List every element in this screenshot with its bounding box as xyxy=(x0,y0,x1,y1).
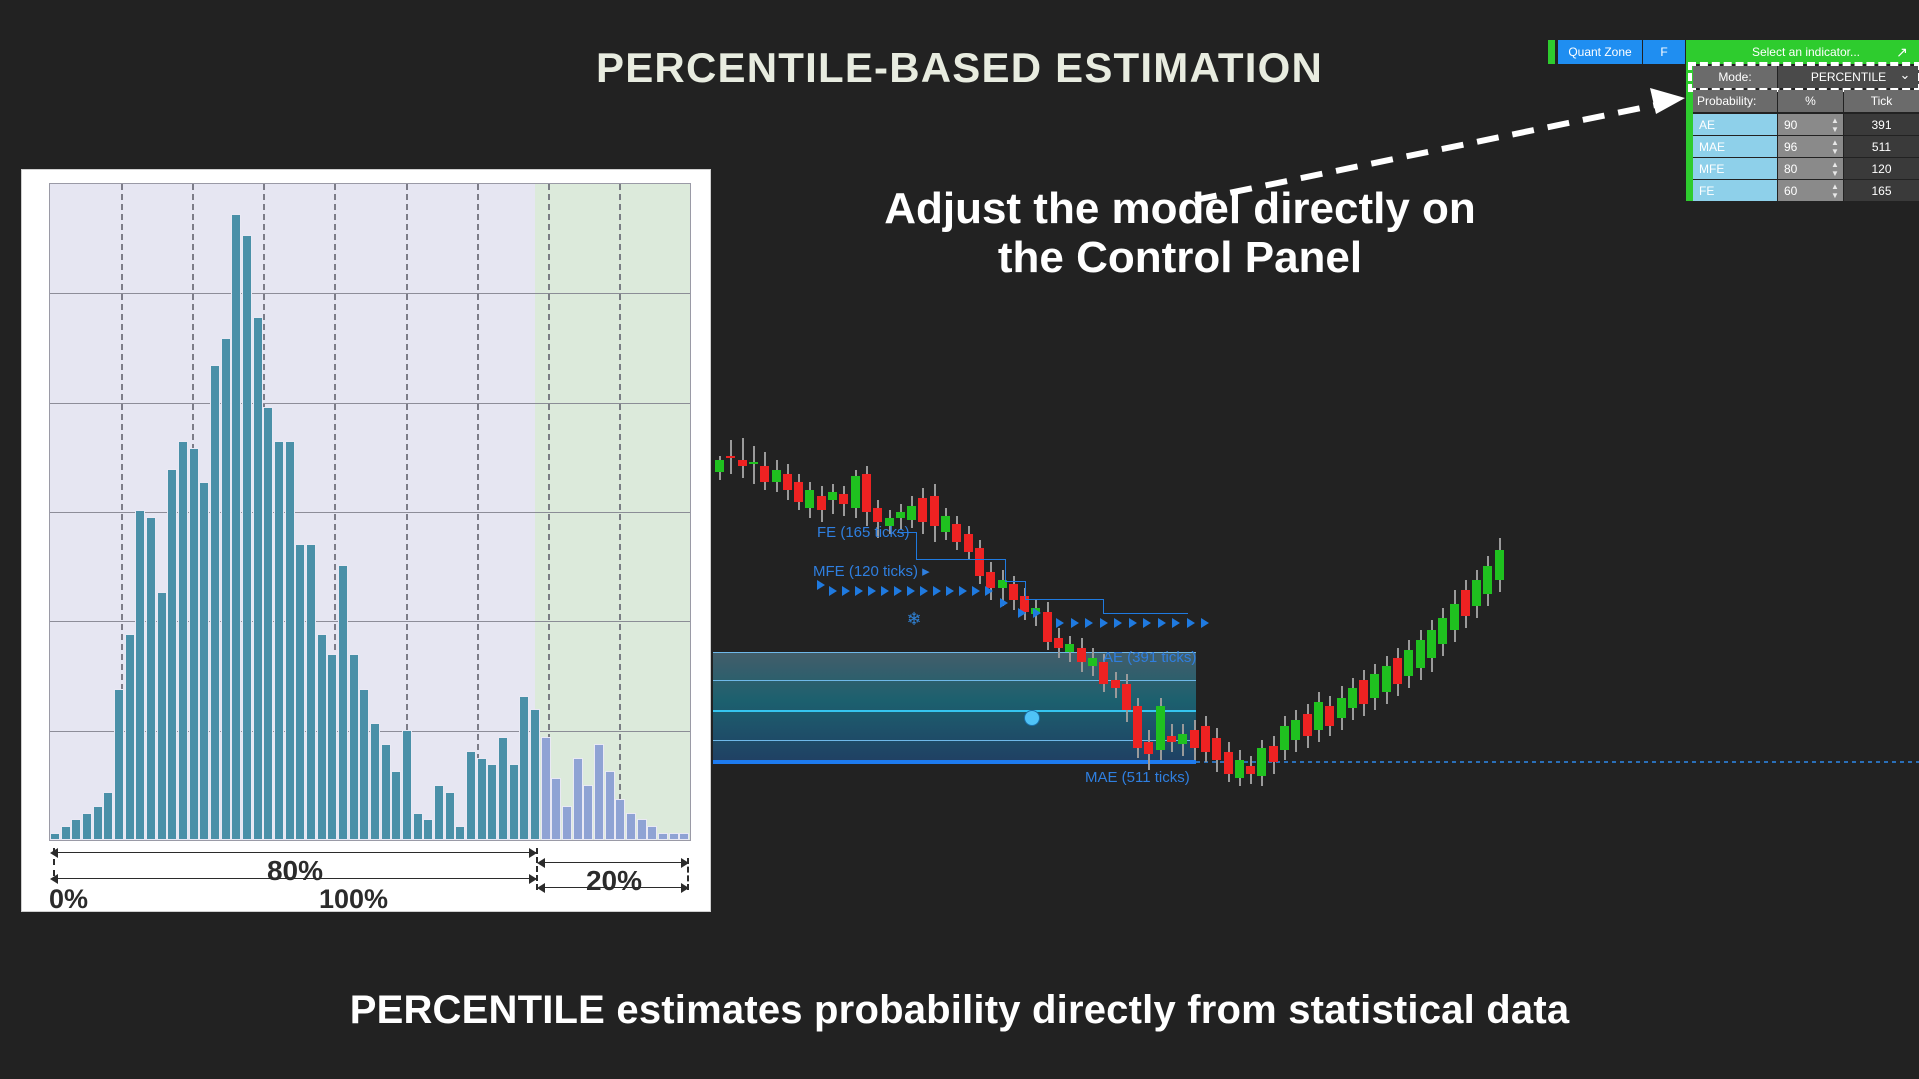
projection-marker-icon xyxy=(946,586,954,596)
projection-marker-icon xyxy=(1172,618,1180,628)
histogram-bar xyxy=(583,785,593,840)
projection-marker-icon xyxy=(972,586,980,596)
bracket-80-label: 80% xyxy=(53,855,537,887)
projection-marker-icon xyxy=(933,586,941,596)
projection-marker-icon xyxy=(868,586,876,596)
candle-body xyxy=(1416,640,1425,668)
gridline-h-3 xyxy=(50,512,690,513)
projection-marker-icon xyxy=(817,580,825,590)
histogram-bar xyxy=(423,819,433,840)
fe-label: FE (165 ticks) xyxy=(817,524,910,541)
projection-marker-icon xyxy=(1000,598,1008,608)
pct-input-fe[interactable]: 60▲▼ xyxy=(1778,180,1843,201)
projection-marker-icon xyxy=(1129,618,1137,628)
candle-body xyxy=(1009,584,1018,600)
histogram-bar xyxy=(103,792,113,840)
candle-body xyxy=(930,496,939,526)
histogram-axis: 80% 20% 0% 100% xyxy=(49,846,691,904)
candlestick-chart: ❄ FE (165 ticks) MFE (120 ticks) ▸ AE (3… xyxy=(713,430,1919,950)
projection-marker-icon xyxy=(1056,618,1064,628)
tick-value-fe: 165 xyxy=(1844,180,1919,201)
fe-step-segment-1 xyxy=(916,532,917,559)
mae-level-line xyxy=(713,760,1196,764)
tick-value-mfe: 120 xyxy=(1844,158,1919,179)
candle-wick xyxy=(742,438,744,478)
projection-marker-icon xyxy=(855,586,863,596)
candle-body xyxy=(1280,726,1289,750)
table-header-probability: Probability: xyxy=(1693,90,1777,112)
candle-body xyxy=(1495,550,1504,580)
histogram-plot-area xyxy=(49,183,691,841)
histogram-bar xyxy=(82,813,92,841)
candle-body xyxy=(1337,698,1346,718)
histogram-bar xyxy=(189,448,199,840)
candle-body xyxy=(1077,648,1086,662)
histogram-bar xyxy=(626,813,636,841)
candle-body xyxy=(1483,566,1492,594)
histogram-bar xyxy=(669,833,679,840)
histogram-bar xyxy=(498,737,508,840)
projection-marker-icon xyxy=(1100,618,1108,628)
candle-body xyxy=(772,470,781,482)
histogram-bar xyxy=(541,737,551,840)
mode-highlight-box xyxy=(1688,62,1919,92)
histogram-bar xyxy=(647,826,657,840)
histogram-bar xyxy=(114,689,124,840)
popout-icon[interactable]: ↗ xyxy=(1885,40,1919,64)
f-button[interactable]: F xyxy=(1643,40,1685,64)
histogram-bar xyxy=(519,696,529,841)
candle-body xyxy=(783,474,792,490)
histogram-bar xyxy=(93,806,103,840)
candle-body xyxy=(1393,658,1402,684)
histogram-bar xyxy=(135,510,145,840)
candle-body xyxy=(839,494,848,504)
stepper-mfe[interactable]: ▲▼ xyxy=(1829,160,1841,178)
candle-body xyxy=(738,460,747,466)
green-strip-left xyxy=(1548,40,1555,64)
candle-body xyxy=(1144,742,1153,754)
row-label-mfe: MFE xyxy=(1693,158,1777,179)
candle-body xyxy=(1359,680,1368,704)
entry-marker-dot[interactable] xyxy=(1025,711,1039,725)
candle-body xyxy=(1438,618,1447,644)
histogram-bar xyxy=(562,806,572,840)
candle-body xyxy=(1370,674,1379,698)
histogram-bar xyxy=(487,764,497,840)
stepper-mae[interactable]: ▲▼ xyxy=(1829,138,1841,156)
bracket-80-arrow-left2 xyxy=(50,874,58,884)
histogram-bar xyxy=(167,469,177,841)
histogram-bar xyxy=(551,778,561,840)
histogram-bar xyxy=(509,764,519,840)
histogram-bar xyxy=(413,813,423,841)
fe-step-segment-6 xyxy=(1025,581,1026,599)
fe-step-segment-4 xyxy=(1005,559,1006,581)
candle-body xyxy=(1167,736,1176,742)
candle-body xyxy=(1088,658,1097,666)
candle-body xyxy=(862,474,871,512)
bracket-80-arrow-right2 xyxy=(529,874,537,884)
histogram-bar xyxy=(71,819,81,840)
histogram-bar xyxy=(285,441,295,840)
candle-body xyxy=(794,482,803,502)
fe-step-segment-5 xyxy=(1005,581,1026,582)
mfe-label: MFE (120 ticks) ▸ xyxy=(813,562,930,580)
histogram-bar xyxy=(605,771,615,840)
candle-body xyxy=(1348,688,1357,708)
ae-label: AE (391 ticks) xyxy=(1103,649,1196,666)
quant-zone-button[interactable]: Quant Zone xyxy=(1558,40,1642,64)
candle-body xyxy=(851,476,860,508)
projection-marker-icon xyxy=(985,586,993,596)
candle-body xyxy=(952,524,961,542)
candle-body xyxy=(975,548,984,576)
histogram-bar xyxy=(370,723,380,840)
candle-body xyxy=(1461,590,1470,616)
candle-body xyxy=(1235,760,1244,778)
candle-body xyxy=(1450,604,1459,630)
candle-body xyxy=(1156,706,1165,750)
histogram-bar xyxy=(466,751,476,840)
histogram-bar xyxy=(349,654,359,840)
gridline-h-2 xyxy=(50,403,690,404)
projection-marker-icon xyxy=(959,586,967,596)
stepper-fe[interactable]: ▲▼ xyxy=(1829,182,1841,200)
candle-body xyxy=(1224,752,1233,774)
bracket-20-bottom xyxy=(539,887,689,888)
bracket-20-arrow-left2 xyxy=(537,883,545,893)
projection-marker-icon xyxy=(907,586,915,596)
projection-marker-icon xyxy=(1201,618,1209,628)
histogram-bar xyxy=(445,792,455,840)
snowflake-icon: ❄ xyxy=(905,610,923,628)
tick-value-mae: 511 xyxy=(1844,136,1919,157)
candle-body xyxy=(1314,702,1323,730)
candle-body xyxy=(873,508,882,522)
histogram-bar xyxy=(594,744,604,840)
candle-body xyxy=(1054,638,1063,648)
histogram-bar xyxy=(199,482,209,840)
projection-marker-icon xyxy=(1114,618,1122,628)
axis-label-100: 100% xyxy=(319,884,388,915)
fe-step-segment-8 xyxy=(1103,599,1104,613)
candle-body xyxy=(1133,706,1142,748)
stepper-ae[interactable]: ▲▼ xyxy=(1829,116,1841,134)
row-label-ae: AE xyxy=(1693,114,1777,135)
histogram-bar xyxy=(61,826,71,840)
bracket-20-dash-right xyxy=(687,858,689,890)
histogram-bar xyxy=(253,317,263,840)
histogram-bar xyxy=(637,819,647,840)
candle-body xyxy=(1291,720,1300,740)
candle-body xyxy=(1269,746,1278,762)
projection-marker-icon xyxy=(1143,618,1151,628)
histogram-bar xyxy=(434,785,444,840)
histogram-bar xyxy=(242,235,252,840)
candle-body xyxy=(1246,766,1255,774)
projection-marker-icon xyxy=(829,586,837,596)
histogram-bar xyxy=(306,544,316,840)
mae-level-dotted-extension xyxy=(1196,761,1919,763)
projection-marker-icon xyxy=(1033,608,1041,618)
candle-body xyxy=(1303,714,1312,736)
zone-line-2 xyxy=(713,680,1196,681)
bracket-20-label: 20% xyxy=(539,865,689,897)
candle-body xyxy=(805,490,814,508)
candle-body xyxy=(1190,730,1199,748)
candle-body xyxy=(964,534,973,552)
histogram-bar xyxy=(530,709,540,840)
projection-marker-icon xyxy=(842,586,850,596)
projection-marker-icon xyxy=(1085,618,1093,628)
histogram-bar xyxy=(327,654,337,840)
gridline-v-8 xyxy=(619,184,621,840)
histogram-bar xyxy=(146,517,156,840)
histogram-bar xyxy=(221,338,231,840)
subtitle-line-2: the Control Panel xyxy=(770,233,1590,282)
candle-body xyxy=(1212,738,1221,760)
candle-body xyxy=(1122,684,1131,710)
histogram-bar xyxy=(338,565,348,840)
green-strip-mid xyxy=(1686,40,1693,64)
candle-body xyxy=(1178,734,1187,744)
gridline-h-1 xyxy=(50,293,690,294)
row-label-mae: MAE xyxy=(1693,136,1777,157)
histogram-bar xyxy=(455,826,465,840)
candle-body xyxy=(1382,666,1391,692)
projection-marker-icon xyxy=(1018,608,1026,618)
histogram-bar xyxy=(359,689,369,840)
projection-marker-icon xyxy=(894,586,902,596)
tick-value-ae: 391 xyxy=(1844,114,1919,135)
row-label-fe: FE xyxy=(1693,180,1777,201)
histogram-bar xyxy=(263,407,273,840)
histogram-bar xyxy=(615,799,625,840)
histogram-bar xyxy=(231,214,241,840)
candle-body xyxy=(941,516,950,532)
candle-body xyxy=(1111,680,1120,688)
candle-body xyxy=(907,506,916,520)
candle-body xyxy=(1043,612,1052,642)
pointer-arrow xyxy=(1180,80,1700,210)
zone-line-3 xyxy=(713,710,1196,712)
histogram-bar xyxy=(157,592,167,840)
projection-marker-icon xyxy=(881,586,889,596)
candle-body xyxy=(760,466,769,482)
candle-body xyxy=(1404,650,1413,676)
fe-step-segment-9 xyxy=(1103,613,1188,614)
histogram-bar xyxy=(317,634,327,840)
histogram-bar xyxy=(50,833,60,840)
pct-input-mae[interactable]: 96▲▼ xyxy=(1778,136,1843,157)
bracket-80-bottom xyxy=(53,878,537,879)
candle-body xyxy=(1201,726,1210,752)
candle-body xyxy=(896,512,905,518)
projection-marker-icon xyxy=(1071,618,1079,628)
histogram-bar xyxy=(274,441,284,840)
projection-marker-icon xyxy=(1158,618,1166,628)
candle-body xyxy=(1325,706,1334,726)
projection-marker-icon xyxy=(1187,618,1195,628)
bracket-80-top xyxy=(53,852,537,853)
candle-body xyxy=(828,492,837,500)
histogram-bar xyxy=(573,758,583,841)
candle-body xyxy=(817,496,826,510)
histogram-bar xyxy=(679,833,689,840)
candle-body xyxy=(749,462,758,464)
candle-body xyxy=(1257,748,1266,776)
table-header-pct: % xyxy=(1778,90,1843,112)
histogram-bar xyxy=(178,441,188,840)
table-header-tick: Tick xyxy=(1844,90,1919,112)
fe-step-segment-3 xyxy=(916,559,1006,560)
pct-input-mfe[interactable]: 80▲▼ xyxy=(1778,158,1843,179)
axis-label-0: 0% xyxy=(49,884,88,915)
candle-body xyxy=(1472,580,1481,606)
zone-line-4 xyxy=(713,740,1196,741)
candle-body xyxy=(715,460,724,472)
projection-marker-icon xyxy=(920,586,928,596)
pct-input-ae[interactable]: 90▲▼ xyxy=(1778,114,1843,135)
fe-step-segment-7 xyxy=(1025,599,1103,600)
histogram-bar xyxy=(402,730,412,840)
histogram-card: 80% 20% 0% 100% xyxy=(22,170,710,911)
gridline-v-6 xyxy=(477,184,479,840)
histogram-bar xyxy=(125,634,135,840)
candle-body xyxy=(1427,630,1436,658)
histogram-bar xyxy=(381,744,391,840)
histogram-bar xyxy=(477,758,487,841)
histogram-bar xyxy=(295,544,305,840)
bracket-20-top xyxy=(539,862,689,863)
histogram-bar xyxy=(391,771,401,840)
candle-body xyxy=(1065,644,1074,652)
candle-body xyxy=(726,456,735,458)
bottom-caption: PERCENTILE estimates probability directl… xyxy=(0,988,1919,1033)
mae-label: MAE (511 ticks) xyxy=(1085,769,1190,786)
candle-wick xyxy=(753,446,755,484)
histogram-bar xyxy=(658,833,668,840)
histogram-bar xyxy=(210,365,220,840)
candle-body xyxy=(918,498,927,522)
